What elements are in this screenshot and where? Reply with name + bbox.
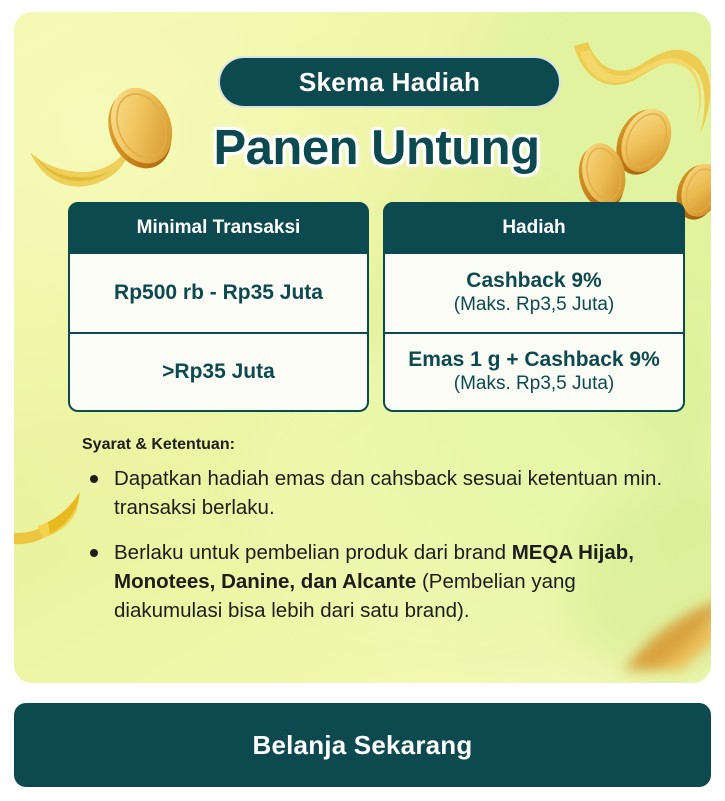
scheme-table: Minimal Transaksi Rp500 rb - Rp35 Juta >…	[68, 202, 685, 412]
page-title: Panen Untung	[14, 120, 711, 176]
cell-main-text: Cashback 9%	[466, 269, 601, 294]
terms-title: Syarat & Ketentuan:	[82, 436, 682, 454]
column-header-label: Minimal Transaksi	[137, 217, 301, 239]
scheme-badge: Skema Hadiah	[218, 56, 561, 108]
list-item: Dapatkan hadiah emas dan cahsback sesuai…	[82, 464, 682, 522]
shop-now-button[interactable]: Belanja Sekarang	[14, 703, 711, 787]
table-row: >Rp35 Juta	[70, 332, 367, 410]
column-header-minimal-transaksi: Minimal Transaksi	[68, 202, 369, 254]
terms-and-conditions: Syarat & Ketentuan: Dapatkan hadiah emas…	[82, 436, 682, 642]
column-header-hadiah: Hadiah	[383, 202, 685, 254]
bullet-icon	[90, 549, 98, 557]
column-header-label: Hadiah	[502, 217, 565, 239]
table-row: Rp500 rb - Rp35 Juta	[70, 254, 367, 332]
column-body-hadiah: Cashback 9% (Maks. Rp3,5 Juta) Emas 1 g …	[383, 254, 685, 412]
shop-now-label: Belanja Sekarang	[253, 730, 473, 761]
glow-blob-top-right	[484, 12, 711, 212]
promo-card: Skema Hadiah Panen Untung Minimal Transa…	[14, 12, 711, 683]
cell-sub-text: (Maks. Rp3,5 Juta)	[454, 294, 615, 317]
cell-main-text: Emas 1 g + Cashback 9%	[408, 348, 660, 373]
terms-list: Dapatkan hadiah emas dan cahsback sesuai…	[82, 464, 682, 626]
list-item: Berlaku untuk pembelian produk dari bran…	[82, 538, 682, 625]
table-row: Emas 1 g + Cashback 9% (Maks. Rp3,5 Juta…	[385, 332, 683, 410]
terms-item-text: Dapatkan hadiah emas dan cahsback sesuai…	[114, 467, 662, 519]
table-row: Cashback 9% (Maks. Rp3,5 Juta)	[385, 254, 683, 332]
bullet-icon	[90, 475, 98, 483]
column-body-minimal-transaksi: Rp500 rb - Rp35 Juta >Rp35 Juta	[68, 254, 369, 412]
cell-main-text: Rp500 rb - Rp35 Juta	[114, 281, 323, 306]
cell-main-text: >Rp35 Juta	[162, 360, 275, 385]
table-column-hadiah: Hadiah Cashback 9% (Maks. Rp3,5 Juta) Em…	[383, 202, 685, 412]
cell-sub-text: (Maks. Rp3,5 Juta)	[454, 373, 615, 396]
scheme-badge-label: Skema Hadiah	[299, 67, 480, 98]
table-column-minimal-transaksi: Minimal Transaksi Rp500 rb - Rp35 Juta >…	[68, 202, 369, 412]
terms-item-lead: Berlaku untuk pembelian produk dari bran…	[114, 541, 512, 564]
